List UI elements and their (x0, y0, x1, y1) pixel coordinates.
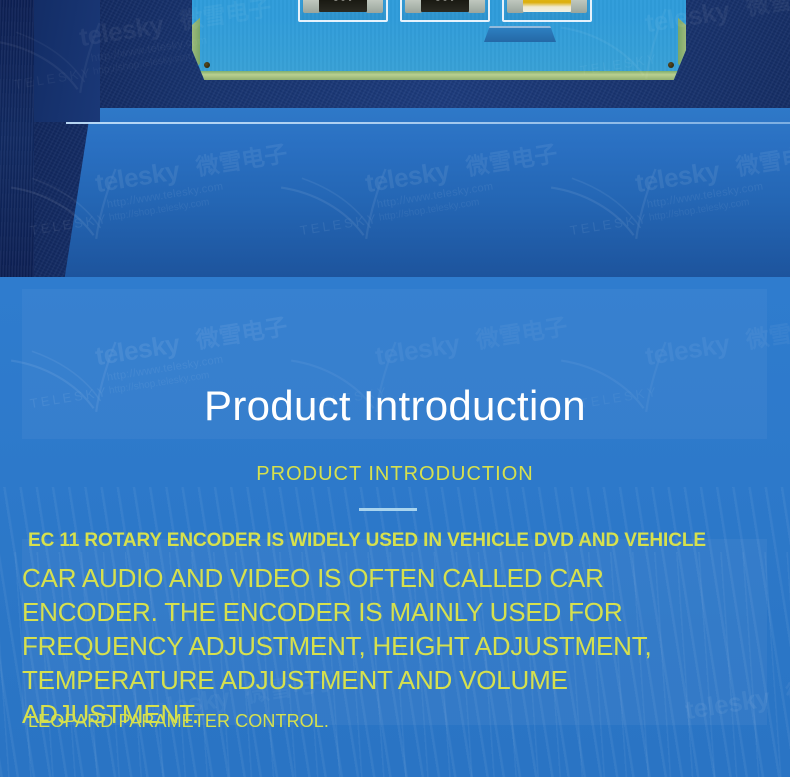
component-footprint: 103 (298, 0, 388, 22)
smd-capacitor (523, 0, 571, 12)
resistor-code-label: 103 (332, 0, 354, 3)
watermark-brand: telesky (93, 328, 181, 372)
section-title: Product Introduction (0, 385, 790, 427)
intro-tail-line: LEOPARD PARAMETER CONTROL. (28, 711, 329, 732)
product-detail-page: 103 103 (0, 0, 790, 777)
encoder-pcb-board: 103 103 (192, 0, 686, 80)
component-footprint (502, 0, 592, 22)
intro-lead-line: EC 11 ROTARY ENCODER IS WIDELY USED IN V… (28, 530, 706, 552)
watermark-brand-cn: 微雪电子 (473, 307, 569, 355)
solder-pad-left (507, 0, 524, 13)
table-surface (0, 108, 790, 277)
watermark-brand-cn: 微雪电子 (193, 307, 289, 355)
watermark-brand: telesky (373, 328, 461, 372)
smd-resistor: 103 (421, 0, 469, 12)
solder-pad-right (570, 0, 587, 13)
product-photo-section: 103 103 (0, 0, 790, 277)
watermark-brand: telesky (643, 328, 731, 372)
solder-pad-right (468, 0, 485, 13)
solder-pad-left (405, 0, 422, 13)
intro-body-copy: CAR AUDIO AND VIDEO IS OFTEN CALLED CAR … (22, 561, 712, 731)
backdrop-left-panel (34, 0, 100, 122)
pcb-trace-tab (484, 26, 556, 42)
pcb-component-row: 103 103 (298, 0, 592, 22)
watermark-brand-cn: 微雪电子 (783, 661, 790, 709)
watermark-url-1: http://www.telesky.com (106, 353, 224, 383)
section-subtitle: PRODUCT INTRODUCTION (0, 463, 790, 486)
watermark-brand-cn: 微雪电子 (743, 307, 790, 355)
backdrop-left-band (0, 0, 34, 277)
solder-pad-left (303, 0, 320, 13)
smd-resistor: 103 (319, 0, 367, 12)
pcb-mounting-via (668, 62, 674, 68)
product-introduction-section: TELESKY telesky 微雪电子 http://www.telesky.… (0, 277, 790, 777)
title-divider (359, 508, 417, 511)
table-edge-highlight (66, 122, 790, 124)
pcb-bottom-edge (192, 71, 686, 80)
solder-pad-right (366, 0, 383, 13)
pcb-mounting-via (204, 62, 210, 68)
resistor-code-label: 103 (434, 0, 456, 3)
component-footprint: 103 (400, 0, 490, 22)
